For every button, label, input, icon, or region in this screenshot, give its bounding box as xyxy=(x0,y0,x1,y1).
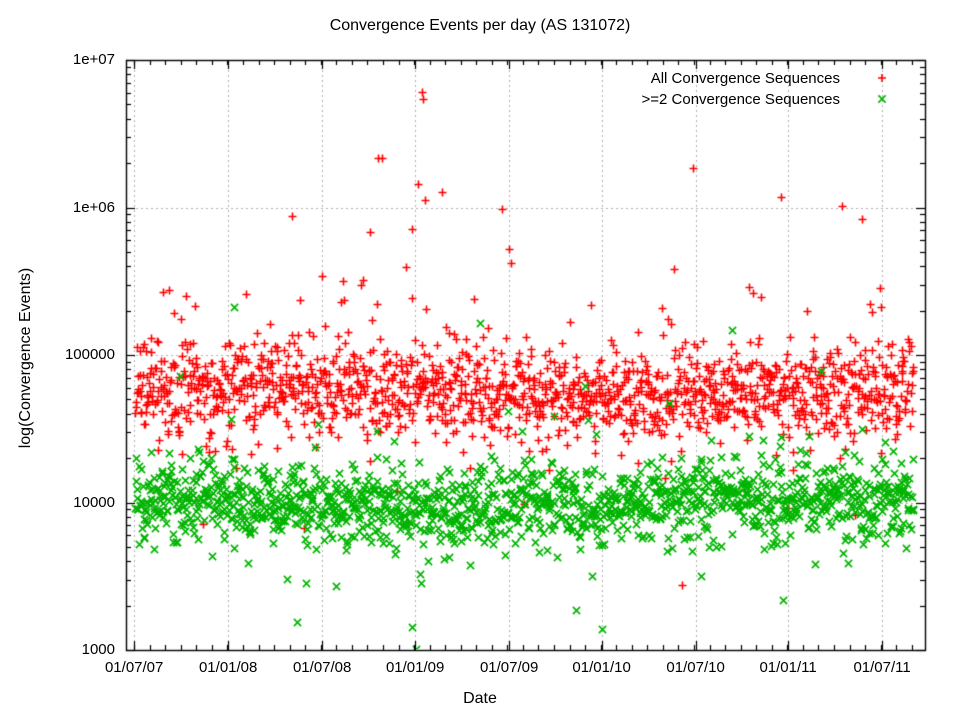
scatter-plot-canvas xyxy=(0,0,960,720)
chart-figure: Convergence Events per day (AS 131072) D… xyxy=(0,0,960,720)
